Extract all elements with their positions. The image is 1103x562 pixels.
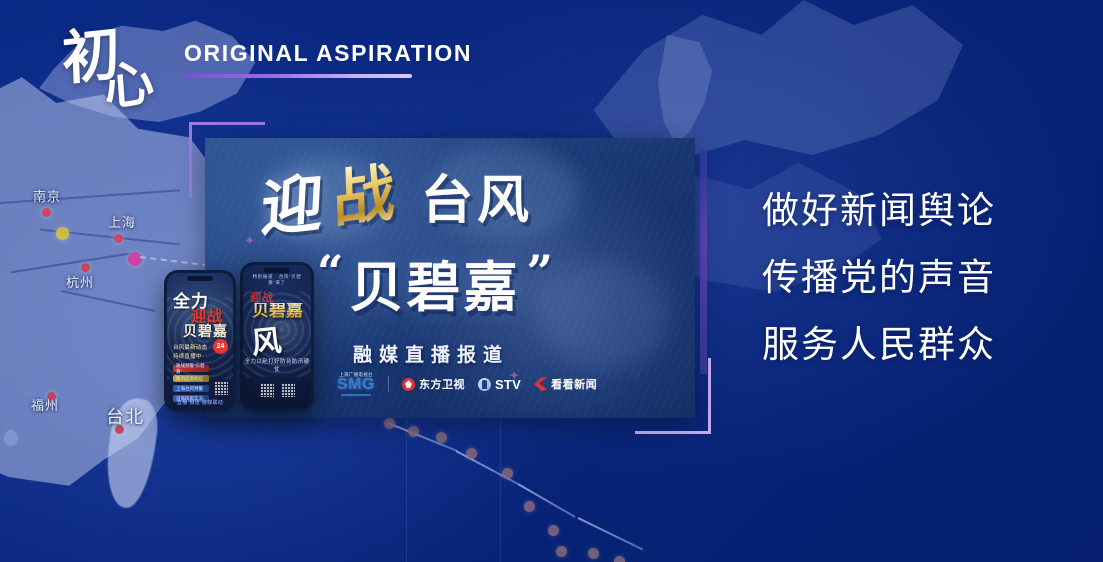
typhoon-track-dot bbox=[408, 426, 419, 437]
phone-right-note: 全力以赴打好防台防汛硬仗 bbox=[243, 357, 311, 373]
map-marker-typhoon-eye bbox=[128, 252, 142, 266]
logo-smg: 上海广播电视台 SMG bbox=[337, 373, 375, 397]
smg-wordmark: SMG bbox=[337, 377, 375, 393]
phone-left-footer: 直播·报道·融媒联动 bbox=[167, 399, 233, 406]
dragon-tv-icon bbox=[402, 378, 415, 391]
broadcaster-logo-strip: 上海广播电视台 SMG 东方卫视 STV 看看新闻 bbox=[337, 373, 597, 397]
phone-right-big-char: 风 bbox=[249, 316, 283, 363]
map-dot-hangzhou bbox=[81, 263, 90, 272]
quote-open-mark: “ bbox=[317, 256, 343, 288]
sparkle-icon: ✦ bbox=[244, 233, 255, 249]
typhoon-track-dot bbox=[614, 556, 625, 562]
phone-left-chip: 上海台风预警 bbox=[173, 385, 209, 392]
header-text-block: ORIGINAL ASPIRATION bbox=[184, 26, 472, 78]
chuxin-char-xin: 心 bbox=[103, 58, 155, 113]
sparkle-icon: ✦ bbox=[411, 261, 422, 277]
typhoon-track-segment-4 bbox=[578, 517, 644, 550]
qr-code-icon bbox=[214, 381, 228, 395]
bracket-side-stripe bbox=[700, 150, 707, 374]
banner-blur-blob bbox=[264, 155, 384, 241]
map-label-hangzhou: 杭州 bbox=[66, 272, 94, 291]
phone-right-qr-row bbox=[243, 383, 311, 397]
phone-right-gold-title: 贝碧嘉 bbox=[252, 303, 303, 321]
dragon-tv-label: 东方卫视 bbox=[419, 376, 465, 392]
smg-underline bbox=[341, 394, 371, 396]
phone-left-screen: 全力 迎战 贝碧嘉 24 台风最新动态 持续直播中 路线预警“贝碧嘉” 防汛应急… bbox=[167, 273, 233, 409]
phone-left-badge: 24 bbox=[213, 339, 228, 354]
typhoon-track-dot bbox=[588, 548, 599, 559]
map-label-nanjing: 南京 bbox=[33, 186, 61, 205]
logo-dragon-tv: 东方卫视 bbox=[402, 376, 465, 392]
phone-left-chip: 路线预警“贝碧嘉” bbox=[173, 365, 209, 372]
map-dot-shanghai bbox=[114, 234, 123, 243]
poster-stage: 南京 上海 杭州 福州 台北 初 心 bbox=[0, 0, 1103, 562]
slogan-block: 做好新闻舆论 传播党的声音 服务人民群众 bbox=[762, 192, 996, 363]
stv-icon bbox=[478, 378, 491, 391]
typhoon-track-dot bbox=[524, 501, 535, 512]
logo-divider bbox=[388, 376, 389, 392]
smg-logo-mark: 上海广播电视台 SMG bbox=[337, 373, 375, 397]
kankan-news-icon bbox=[534, 377, 547, 391]
typhoon-track-dot bbox=[436, 432, 447, 443]
qr-code-icon bbox=[260, 383, 274, 397]
poster-header: 初 心 ORIGINAL ASPIRATION bbox=[62, 26, 472, 78]
phone-left-chip: 防汛应急响应 bbox=[173, 375, 209, 382]
map-label-fuzhou: 福州 bbox=[31, 395, 59, 414]
header-underline-accent bbox=[184, 74, 412, 78]
typhoon-track-dot bbox=[384, 418, 395, 429]
phone-left-promo-2: 持续直播中 bbox=[173, 352, 202, 360]
phone-left-promo-1: 台风最新动态 bbox=[173, 343, 207, 351]
slogan-line-3: 服务人民群众 bbox=[762, 326, 996, 363]
english-title: ORIGINAL ASPIRATION bbox=[184, 40, 472, 67]
map-marker-warning-center bbox=[56, 227, 69, 240]
phone-mockup-right: 特别报道 · 台风“贝碧嘉”来了 迎战 风 贝碧嘉 全力以赴打好防台防汛硬仗 bbox=[240, 262, 314, 412]
kankan-news-label: 看看新闻 bbox=[551, 376, 597, 392]
phone-mockup-left: 全力 迎战 贝碧嘉 24 台风最新动态 持续直播中 路线预警“贝碧嘉” 防汛应急… bbox=[164, 270, 236, 412]
slogan-line-1: 做好新闻舆论 bbox=[762, 192, 996, 229]
typhoon-track-dot bbox=[466, 448, 477, 459]
slogan-line-2: 传播党的声音 bbox=[762, 259, 996, 296]
phone-right-screen: 特别报道 · 台风“贝碧嘉”来了 迎战 风 贝碧嘉 全力以赴打好防台防汛硬仗 bbox=[243, 265, 311, 409]
banner-blur-blob bbox=[538, 261, 668, 371]
logo-kankan-news: 看看新闻 bbox=[534, 376, 597, 392]
phone-notch bbox=[187, 276, 213, 281]
typhoon-track-dot bbox=[556, 546, 567, 557]
map-islet bbox=[4, 430, 18, 446]
map-label-taipei: 台北 bbox=[106, 403, 144, 429]
typhoon-track-dot bbox=[502, 468, 513, 479]
map-label-shanghai: 上海 bbox=[108, 212, 136, 231]
map-dot-nanjing bbox=[42, 208, 51, 217]
logo-stv: STV bbox=[478, 377, 521, 392]
qr-code-icon bbox=[281, 383, 295, 397]
phone-right-top-note: 特别报道 · 台风“贝碧嘉”来了 bbox=[249, 274, 305, 286]
phone-notch bbox=[264, 268, 290, 273]
typhoon-track-dot bbox=[548, 525, 559, 536]
phone-left-title-3: 贝碧嘉 bbox=[183, 321, 228, 341]
stv-label: STV bbox=[495, 377, 521, 392]
banner-blur-blob bbox=[430, 144, 580, 240]
